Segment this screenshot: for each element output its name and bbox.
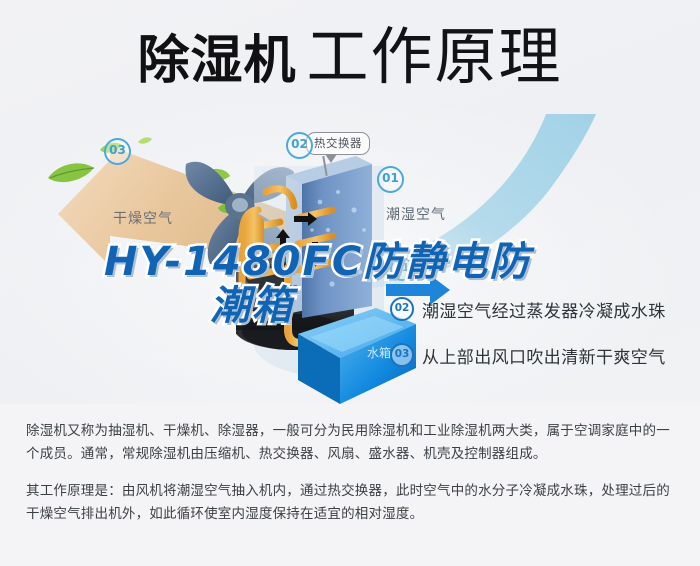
step-item-01: 01 潮湿空气由下部进风口吸入机内: [390, 252, 666, 286]
description-paragraph-1: 除湿机又称为抽湿机、干燥机、除湿器，一般可分为民用除湿机和工业除湿机两大类，属于…: [26, 420, 678, 466]
page-title-secondary: 工作原理: [307, 20, 563, 93]
product-banner-image: 除湿机工作原理: [0, 0, 700, 566]
badge-step-03: 03: [104, 138, 131, 165]
step-item-03: 03 从上部出风口吹出清新干爽空气: [390, 332, 666, 378]
label-water-tank: 水箱: [367, 344, 391, 361]
label-dry-air: 干燥空气: [113, 208, 173, 228]
callout-heat-exchanger: 热交换器: [306, 132, 370, 155]
step-number: 02: [390, 297, 414, 321]
label-moist-air: 潮湿空气: [386, 204, 446, 224]
step-number: 03: [390, 343, 414, 367]
page-title-primary: 除湿机: [137, 31, 296, 91]
step-number: 01: [390, 257, 414, 281]
steps-list: 01 潮湿空气由下部进风口吸入机内 02 潮湿空气经过蒸发器冷凝成水珠 03 从…: [390, 252, 666, 378]
leaf-icon: [38, 136, 168, 206]
description-paragraph-2: 其工作原理是：由风机将潮湿空气抽入机内，通过热交换器，此时空气中的水分子冷凝成水…: [26, 480, 678, 526]
step-text: 从上部出风口吹出清新干爽空气: [422, 343, 666, 368]
page-title: 除湿机工作原理: [0, 26, 700, 88]
step-item-02: 02 潮湿空气经过蒸发器冷凝成水珠: [390, 286, 666, 332]
badge-step-01: 01: [377, 166, 404, 193]
badge-step-02: 02: [286, 132, 313, 159]
step-text: 潮湿空气经过蒸发器冷凝成水珠: [422, 297, 666, 322]
description-text: 除湿机又称为抽湿机、干燥机、除湿器，一般可分为民用除湿机和工业除湿机两大类，属于…: [26, 420, 678, 526]
label-compressor: 压缩机: [266, 282, 299, 298]
